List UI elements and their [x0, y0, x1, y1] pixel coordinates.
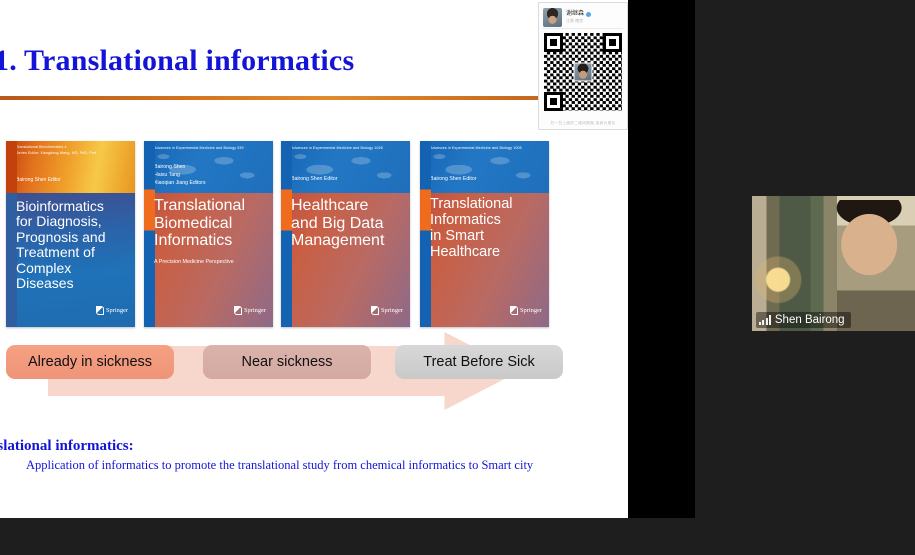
book-series-editor: Series Editor: Xiangdong Wang, MD, PhD, …: [16, 151, 129, 155]
book-cover: Advances in Experimental Medicine and Bi…: [420, 141, 549, 327]
book-subtitle: A Precision Medicine Perspective: [154, 259, 267, 265]
book-cover: Translational Bioinformatics 4 Series Ed…: [6, 141, 135, 327]
book-cover: Advances in Experimental Medicine and Bi…: [281, 141, 410, 327]
qr-card-header: 谢继森 江苏 南京: [543, 6, 623, 29]
publisher-logo: Springer: [510, 306, 542, 315]
book-header-band: Advances in Experimental Medicine and Bi…: [420, 141, 549, 193]
publisher-logo: Springer: [371, 306, 403, 315]
avatar: [543, 8, 562, 27]
book-editors: Bairong Shen Editor: [430, 175, 543, 183]
publisher-logo: Springer: [234, 306, 266, 315]
participant-name-badge: Shen Bairong: [756, 312, 851, 328]
flow-stage-treat-before-sick: Treat Before Sick: [395, 345, 563, 379]
book-editors: Bairong Shen Haixu Tang Xiaoqian Jiang E…: [154, 163, 267, 187]
book-editors: Bairong Shen Editor: [291, 175, 404, 183]
page-title: 1. Translational informatics: [0, 44, 354, 78]
screen-share-stage: 1. Translational informatics 谢继森 江苏 南京: [0, 0, 695, 518]
qr-code-image[interactable]: [544, 33, 622, 111]
caption-body: Application of informatics to promote th…: [26, 458, 533, 473]
book-title: Healthcare and Big Data Management: [291, 197, 404, 250]
wechat-qr-card[interactable]: 谢继森 江苏 南京 扫一扫上面的二维码图案,加我为朋友: [538, 2, 628, 130]
flow-stage-label: Near sickness: [241, 354, 332, 370]
book-series-label: Advances in Experimental Medicine and Bi…: [291, 146, 404, 150]
book-editors: Bairong Shen Editor: [16, 177, 129, 185]
book-title: Bioinformatics for Diagnosis, Prognosis …: [16, 199, 129, 291]
participant-name: Shen Bairong: [775, 314, 845, 326]
caption-heading: Translational informatics:: [0, 438, 134, 455]
publisher-name: Springer: [106, 307, 128, 314]
publisher-name: Springer: [381, 307, 403, 314]
meeting-app-root: 1. Translational informatics 谢继森 江苏 南京: [0, 0, 915, 555]
book-cover: Advances in Experimental Medicine and Bi…: [144, 141, 273, 327]
book-header-band: Advances in Experimental Medicine and Bi…: [144, 141, 273, 193]
qr-card-identity: 谢继森 江苏 南京: [566, 11, 591, 23]
qr-finder-bottom-left: [544, 92, 563, 111]
book-title: Translational Informatics in Smart Healt…: [430, 197, 543, 261]
book-series-label: Translational Bioinformatics 4: [16, 145, 129, 149]
book-title: Translational Biomedical Informatics: [154, 197, 267, 250]
qr-contact-name-text: 谢继森: [566, 11, 584, 17]
publisher-logo: Springer: [96, 306, 128, 315]
publisher-name: Springer: [244, 307, 266, 314]
qr-contact-location: 江苏 南京: [566, 19, 591, 23]
qr-contact-name: 谢继森: [566, 11, 591, 17]
flow-stage-already-in-sickness: Already in sickness: [6, 345, 174, 379]
qr-finder-top-left: [544, 33, 563, 52]
publisher-name: Springer: [520, 307, 542, 314]
title-divider: [0, 96, 547, 100]
qr-finder-top-right: [603, 33, 622, 52]
book-series-label: Advances in Experimental Medicine and Bi…: [154, 146, 267, 150]
book-header-band: Translational Bioinformatics 4 Series Ed…: [6, 141, 135, 193]
participant-video-tile[interactable]: Shen Bairong: [752, 196, 915, 331]
book-series-label: Advances in Experimental Medicine and Bi…: [430, 146, 543, 150]
presentation-slide: 1. Translational informatics 谢继森 江苏 南京: [0, 0, 628, 518]
qr-center-avatar-icon: [574, 63, 593, 82]
flow-stage-label: Treat Before Sick: [423, 354, 534, 370]
flow-stage-label: Already in sickness: [28, 354, 152, 370]
book-header-band: Advances in Experimental Medicine and Bi…: [281, 141, 410, 193]
flow-stage-near-sickness: Near sickness: [203, 345, 371, 379]
signal-strength-icon: [759, 315, 771, 325]
qr-card-footnote: 扫一扫上面的二维码图案,加我为朋友: [539, 121, 627, 126]
male-icon: [586, 12, 591, 17]
